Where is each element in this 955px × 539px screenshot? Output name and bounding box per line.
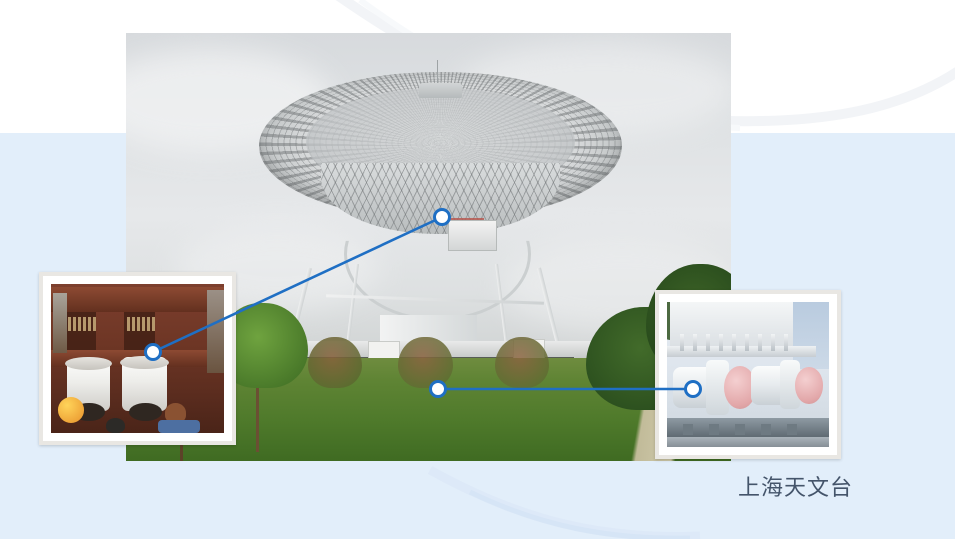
connector-upper bbox=[153, 217, 442, 352]
slide-canvas: 上海天文台 bbox=[0, 0, 955, 539]
marker-telescope-base[interactable] bbox=[431, 382, 446, 397]
marker-telescope-mount[interactable] bbox=[435, 210, 450, 225]
marker-inset-left[interactable] bbox=[146, 345, 161, 360]
observatory-caption: 上海天文台 bbox=[738, 470, 853, 502]
marker-inset-right[interactable] bbox=[686, 382, 701, 397]
callout-connectors bbox=[0, 0, 955, 539]
